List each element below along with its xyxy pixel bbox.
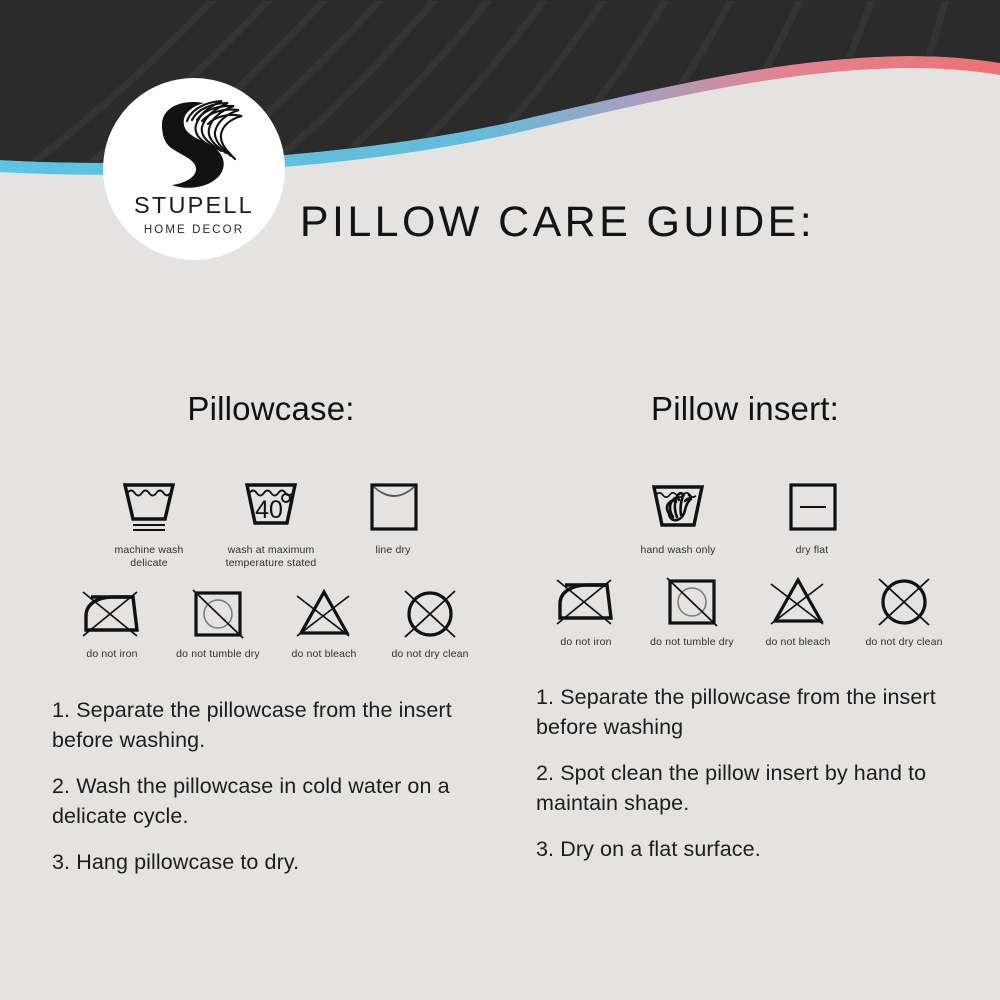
care-symbol-hand-wash-only: hand wash only [630, 475, 726, 557]
hand-wash-only-icon [647, 475, 709, 537]
care-symbol-label: line dry [341, 544, 445, 557]
instruction-step: 3. Dry on a flat surface. [536, 834, 980, 864]
care-symbol-label: do not iron [536, 636, 636, 649]
care-symbol-label: do not bleach [748, 636, 848, 649]
care-symbol-label: do not tumble dry [168, 648, 268, 661]
brand-tagline: HOME DECOR [144, 225, 244, 237]
care-symbol-row-primary: machine wash delicate 40 wash at maximum… [36, 475, 506, 569]
instruction-step: 3. Hang pillowcase to dry. [52, 847, 506, 877]
wash-temperature-value: 40 [255, 496, 283, 524]
care-symbol-label: do not iron [62, 648, 162, 661]
stupell-swoosh-logo-icon [142, 95, 246, 191]
care-symbol-do-not-dry-clean: do not dry clean [858, 573, 950, 649]
care-symbol-label: do not dry clean [854, 636, 954, 649]
brand-name: STUPELL [134, 194, 254, 218]
instruction-step: 2. Spot clean the pillow insert by hand … [536, 758, 980, 818]
care-symbol-row-prohibitions: do not iron do not tumble dry do not [36, 585, 506, 661]
care-symbol-do-not-bleach: do not bleach [278, 585, 370, 661]
care-symbol-label: do not bleach [274, 648, 374, 661]
care-symbol-do-not-tumble-dry: do not tumble dry [646, 573, 738, 649]
care-symbol-wash-40: 40 wash at maximum temperature stated [223, 475, 319, 569]
care-symbol-do-not-iron: do not iron [66, 585, 158, 661]
instruction-step: 1. Separate the pillowcase from the inse… [536, 682, 980, 742]
section-heading-pillowcase: Pillowcase: [36, 385, 506, 433]
instruction-step: 2. Wash the pillowcase in cold water on … [52, 771, 506, 831]
do-not-iron-icon [555, 573, 617, 631]
care-symbol-row-primary: hand wash only dry flat [510, 475, 980, 557]
care-symbol-dry-flat: dry flat [764, 475, 860, 557]
care-symbol-do-not-tumble-dry: do not tumble dry [172, 585, 264, 661]
do-not-bleach-icon [293, 585, 355, 643]
line-dry-icon [362, 475, 424, 537]
care-symbol-label: hand wash only [626, 544, 730, 557]
do-not-tumble-dry-icon [187, 585, 249, 643]
care-symbol-label: do not dry clean [380, 648, 480, 661]
do-not-iron-icon [81, 585, 143, 643]
care-symbol-do-not-iron: do not iron [540, 573, 632, 649]
section-pillow-insert: Pillow insert: hand wash only [510, 385, 980, 864]
care-symbol-label: wash at maximum temperature stated [219, 544, 323, 569]
care-symbol-row-prohibitions: do not iron do not tumble dry do not [510, 573, 980, 649]
do-not-dry-clean-icon [873, 573, 935, 631]
care-symbol-machine-wash-delicate: machine wash delicate [101, 475, 197, 569]
do-not-tumble-dry-icon [661, 573, 723, 631]
wash-at-40-degrees-icon: 40 [240, 475, 302, 537]
machine-wash-delicate-icon [118, 475, 180, 537]
care-symbol-label: dry flat [760, 544, 864, 557]
instruction-step: 1. Separate the pillowcase from the inse… [52, 695, 506, 755]
brand-logo: STUPELL HOME DECOR [103, 78, 285, 260]
care-symbol-line-dry: line dry [345, 475, 441, 557]
instructions-pillow-insert: 1. Separate the pillowcase from the inse… [510, 682, 980, 864]
do-not-dry-clean-icon [399, 585, 461, 643]
dry-flat-icon [781, 475, 843, 537]
do-not-bleach-icon [767, 573, 829, 631]
care-symbol-do-not-dry-clean: do not dry clean [384, 585, 476, 661]
care-symbol-label: machine wash delicate [97, 544, 201, 569]
care-symbol-do-not-bleach: do not bleach [752, 573, 844, 649]
section-pillowcase: Pillowcase: machine wash delicate 40 [36, 385, 506, 877]
instructions-pillowcase: 1. Separate the pillowcase from the inse… [36, 695, 506, 877]
section-heading-pillow-insert: Pillow insert: [510, 385, 980, 433]
care-symbol-label: do not tumble dry [642, 636, 742, 649]
